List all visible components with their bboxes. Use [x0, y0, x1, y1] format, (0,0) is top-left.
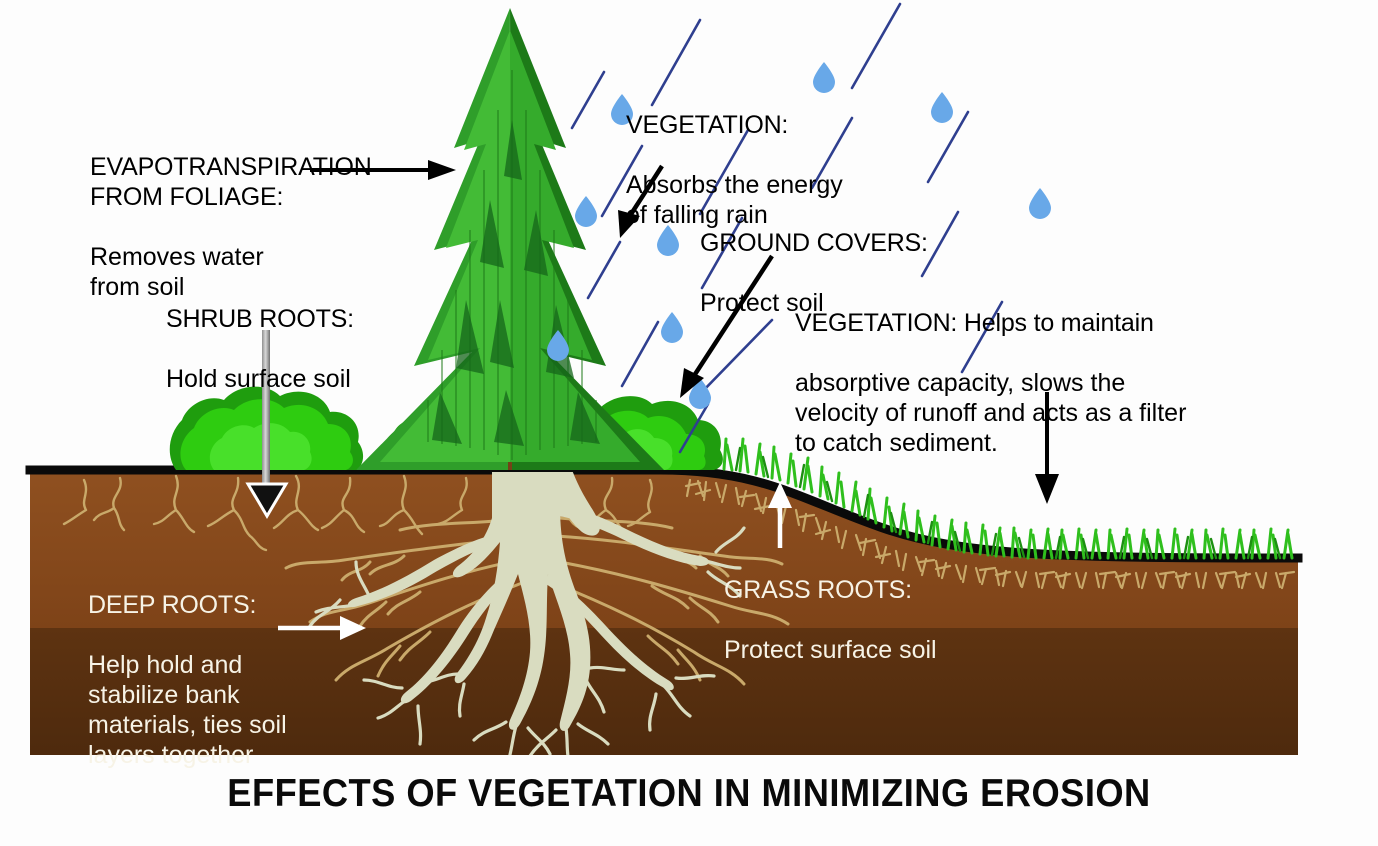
label-grass-roots-body: Protect surface soil — [724, 635, 937, 665]
label-deep-roots-body: Help hold and stabilize bank materials, … — [88, 650, 287, 770]
label-shrub-roots-body: Hold surface soil — [166, 364, 354, 394]
erosion-diagram: EVAPOTRANSPIRATION FROM FOLIAGE: Removes… — [0, 0, 1378, 846]
label-shrub-roots-heading: SHRUB ROOTS: — [166, 304, 354, 334]
label-vegetation-runoff-body: absorptive capacity, slows the velocity … — [795, 368, 1186, 458]
label-grass-roots-heading: GRASS ROOTS: — [724, 575, 937, 605]
label-vegetation-runoff-heading: VEGETATION: Helps to maintain — [795, 308, 1186, 338]
label-grass-roots: GRASS ROOTS: Protect surface soil — [724, 545, 937, 695]
page-title: EFFECTS OF VEGETATION IN MINIMIZING EROS… — [48, 772, 1330, 816]
label-deep-roots-heading: DEEP ROOTS: — [88, 590, 287, 620]
label-vegetation-rain-heading: VEGETATION: — [626, 110, 843, 140]
label-ground-covers-heading: GROUND COVERS: — [700, 228, 928, 258]
label-shrub-roots: SHRUB ROOTS: Hold surface soil — [166, 274, 354, 424]
label-deep-roots: DEEP ROOTS: Help hold and stabilize bank… — [88, 560, 287, 800]
label-evapotranspiration-heading: EVAPOTRANSPIRATION FROM FOLIAGE: — [90, 152, 372, 212]
label-vegetation-runoff: VEGETATION: Helps to maintain absorptive… — [795, 278, 1186, 488]
